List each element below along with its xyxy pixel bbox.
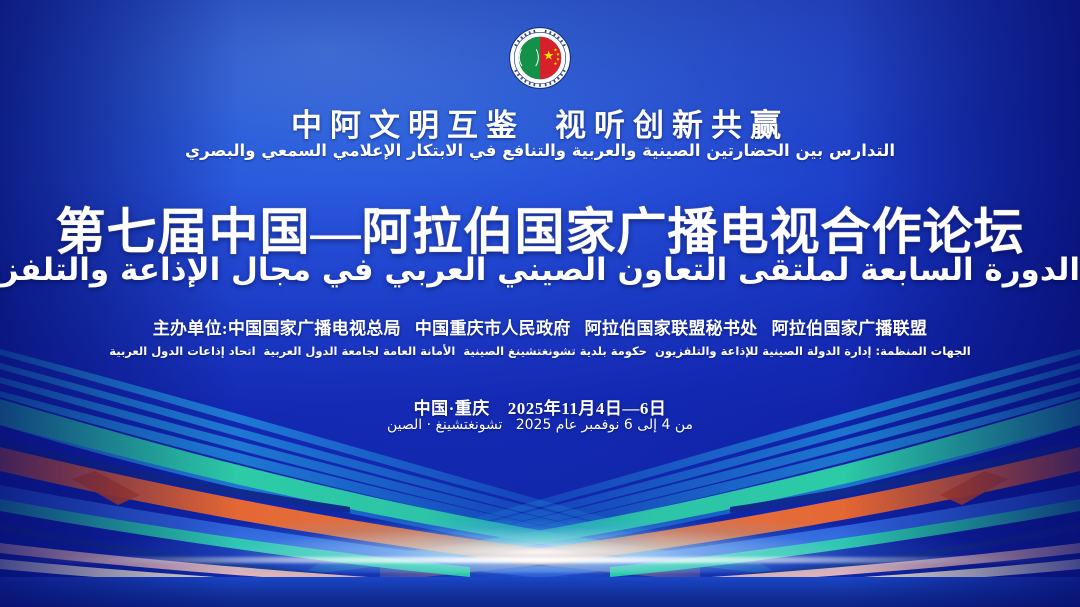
china-arab-cooperation-emblem (509, 27, 571, 89)
venue-arabic: من 4 إلى 6 نوفمبر عام 2025 تشونغتشينغ · … (0, 417, 1080, 433)
venue-place-arabic: تشونغتشينغ · الصين (387, 417, 502, 433)
venue-chinese: 中国·重庆2025年11月4日—6日 (0, 394, 1080, 419)
conference-backdrop: 中阿文明互鉴视听创新共赢 التدارس بين الحضارتين الصين… (0, 0, 1080, 607)
organizer-arabic-4: اتحاد إذاعات الدول العربية (109, 344, 255, 358)
venue-place-chinese: 中国·重庆 (414, 399, 490, 418)
organizers-arabic: الجهات المنظمة: إدارة الدولة الصينية للإ… (0, 344, 1080, 358)
tagline-chinese: 中阿文明互鉴视听创新共赢 (0, 100, 1080, 145)
tagline-chinese-part2: 视听创新共赢 (555, 108, 789, 143)
backdrop-content: 中阿文明互鉴视听创新共赢 التدارس بين الحضارتين الصين… (0, 0, 1080, 607)
organizer-chinese-4: 阿拉伯国家广播联盟 (772, 319, 928, 338)
organizers-label-arabic: الجهات المنظمة: (876, 344, 971, 358)
organizer-chinese-1: 中国国家广播电视总局 (228, 319, 401, 338)
tagline-arabic: التدارس بين الحضارتين الصينية والعربية و… (0, 141, 1080, 160)
organizer-arabic-2: حكومة بلدية تشونغتشينغ الصينية (463, 344, 647, 358)
organizer-chinese-3: 阿拉伯国家联盟秘书处 (585, 319, 758, 338)
organizers-chinese: 主办单位:中国国家广播电视总局中国重庆市人民政府阿拉伯国家联盟秘书处阿拉伯国家广… (0, 314, 1080, 339)
organizer-chinese-2: 中国重庆市人民政府 (415, 319, 571, 338)
tagline-chinese-part1: 中阿文明互鉴 (291, 108, 525, 143)
venue-date-arabic: من 4 إلى 6 نوفمبر عام 2025 (516, 417, 693, 433)
venue-date-chinese: 2025年11月4日—6日 (508, 399, 667, 418)
page-title-arabic: الدورة السابعة لملتقى التعاون الصيني الع… (0, 252, 1080, 288)
organizers-label-chinese: 主办单位: (153, 319, 228, 338)
organizer-arabic-1: إدارة الدولة الصينية للإذاعة والتلفزيون (655, 344, 872, 358)
organizer-arabic-3: الأمانة العامة لجامعة الدول العربية (264, 344, 456, 358)
